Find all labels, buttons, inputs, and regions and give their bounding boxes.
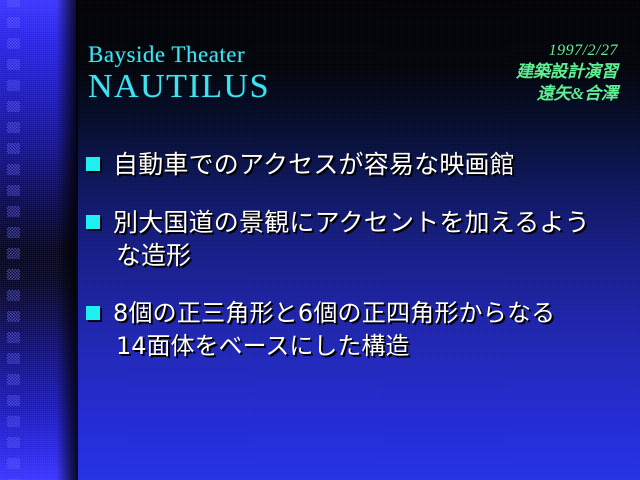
bullet-item-1-line-1: 自動車でのアクセスが容易な映画館 <box>113 148 634 181</box>
slide-bullet-list: 自動車でのアクセスが容易な映画館 別大国道の景観にアクセントを加えるよう な造形… <box>86 148 634 363</box>
bullet-item-3-line-1: 8個の正三角形と6個の正四角形からなる <box>113 297 634 330</box>
bullet-item-3: 8個の正三角形と6個の正四角形からなる <box>86 297 634 330</box>
presentation-date: 1997/2/27 <box>516 40 618 61</box>
title-main: NAUTILUS <box>88 68 270 106</box>
square-bullet-icon <box>86 157 100 171</box>
bullet-spacer-2 <box>86 272 634 297</box>
bullet-item-2-line-1: 別大国道の景観にアクセントを加えるよう <box>113 206 634 239</box>
slide-meta-block: 1997/2/27 建築設計演習 遠矢&合澤 <box>516 40 618 105</box>
square-bullet-icon <box>86 306 100 320</box>
bullet-item-3-line-2: 14面体をベースにした構造 <box>86 330 634 363</box>
slide-header: Bayside Theater NAUTILUS 1997/2/27 建築設計演… <box>0 0 640 130</box>
bullet-item-2-line-2: な造形 <box>86 239 634 272</box>
bullet-item-1: 自動車でのアクセスが容易な映画館 <box>86 148 634 181</box>
title-subtitle: Bayside Theater <box>88 42 270 67</box>
bullet-item-2: 別大国道の景観にアクセントを加えるよう <box>86 206 634 239</box>
slide-title-block: Bayside Theater NAUTILUS <box>88 42 270 106</box>
course-name: 建築設計演習 <box>516 61 618 83</box>
bullet-spacer-1 <box>86 181 634 206</box>
author-names: 遠矢&合澤 <box>516 83 618 105</box>
presentation-slide: Bayside Theater NAUTILUS 1997/2/27 建築設計演… <box>0 0 640 480</box>
square-bullet-icon <box>86 215 100 229</box>
